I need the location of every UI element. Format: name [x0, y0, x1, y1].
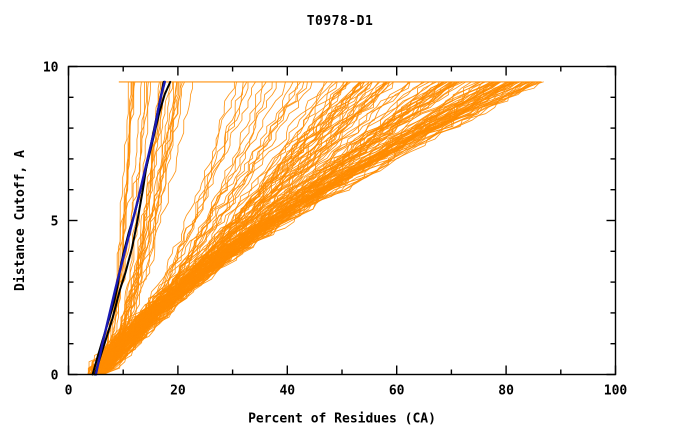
x-tick-label: 20 [170, 384, 186, 399]
y-axis-label: Distance Cutoff, A [13, 150, 28, 291]
y-tick-label: 5 [51, 215, 59, 230]
ensemble-curve [97, 82, 507, 375]
x-tick-label: 40 [279, 384, 295, 399]
ensemble-curve [103, 82, 506, 375]
ensemble-curve [100, 82, 514, 375]
chart-root: T0978-D1 0204060801000510Percent of Resi… [0, 0, 680, 440]
curve-layer [88, 82, 544, 375]
x-tick-label: 80 [498, 384, 514, 399]
plot-area: 0204060801000510Percent of Residues (CA)… [0, 0, 680, 440]
y-tick-label: 10 [43, 61, 59, 76]
ensemble-curve [96, 82, 514, 375]
x-tick-label: 60 [389, 384, 405, 399]
y-tick-label: 0 [51, 369, 59, 384]
x-tick-label: 100 [604, 384, 628, 399]
ensemble-curve [100, 82, 530, 375]
x-tick-label: 0 [65, 384, 73, 399]
x-axis-label: Percent of Residues (CA) [248, 412, 436, 427]
